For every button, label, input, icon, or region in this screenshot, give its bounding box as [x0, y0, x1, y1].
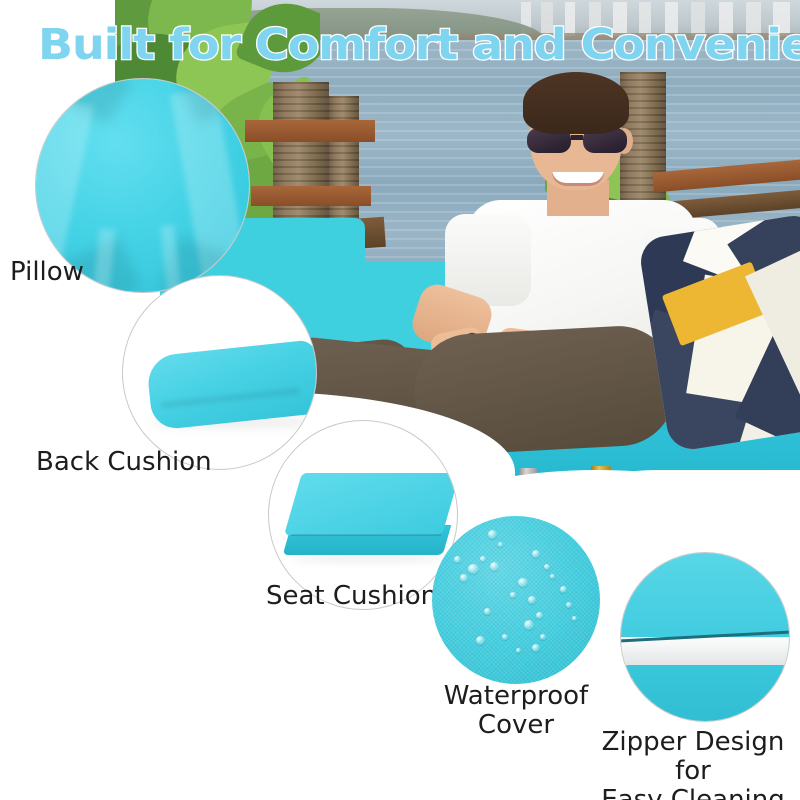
wooden-rail [245, 120, 375, 142]
cushion-body [620, 665, 790, 722]
callout-label-seat-cushion: Seat Cushion [266, 582, 437, 611]
callout-circle-zipper [620, 552, 790, 722]
callout-label-zipper: Zipper Design for Easy Cleaning [586, 728, 800, 800]
callout-label-back-cushion: Back Cushion [36, 448, 212, 477]
page-title-text: Built for Comfort and Convenience [38, 20, 800, 70]
product-feature-image: Built for Comfort and Convenience Pillow… [0, 0, 800, 800]
person-hair [523, 72, 629, 134]
person-smile [552, 172, 604, 186]
callout-circle-back-cushion [122, 275, 317, 470]
seat-cushion-seam [291, 534, 442, 536]
fabric-texture [432, 516, 600, 684]
wooden-rail [251, 186, 371, 206]
callout-label-waterproof: Waterproof Cover [424, 682, 608, 740]
page-title: Built for Comfort and Convenience [38, 24, 800, 67]
callout-label-pillow: Pillow [10, 258, 84, 287]
callout-circle-waterproof [432, 516, 600, 684]
